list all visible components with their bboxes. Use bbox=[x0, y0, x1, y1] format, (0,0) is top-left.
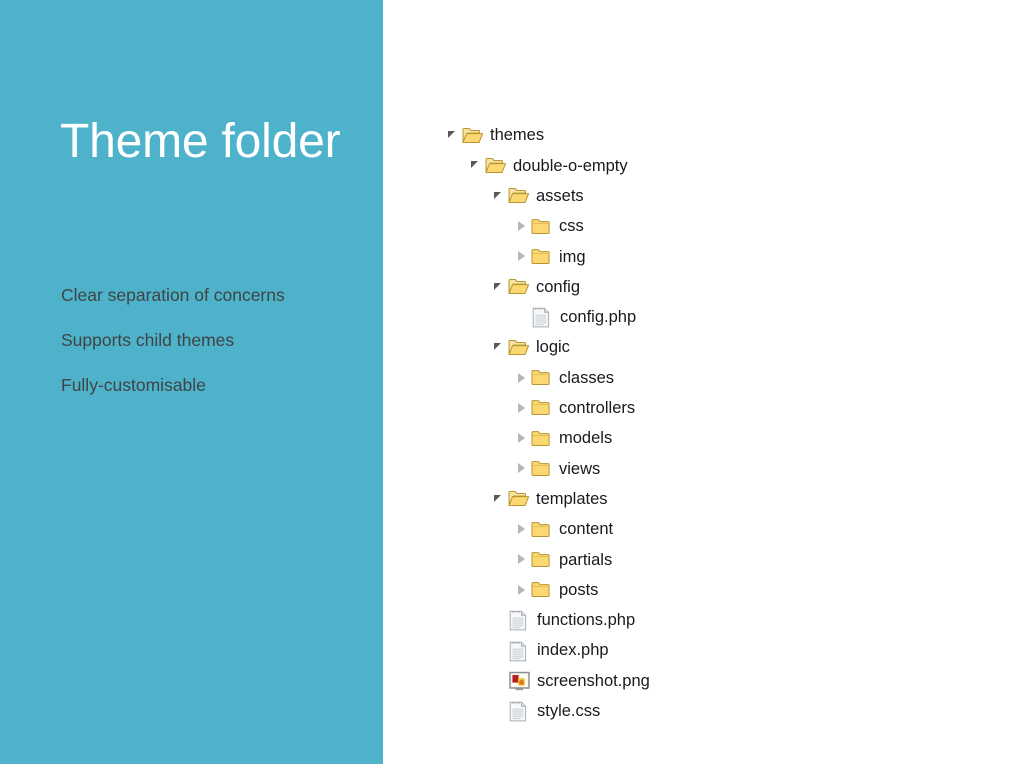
folder-open-icon bbox=[485, 156, 506, 175]
file-tree: themesdouble-o-emptyassetscssimgconfigco… bbox=[445, 120, 650, 726]
tree-node-css[interactable]: css bbox=[445, 211, 650, 241]
tree-node-content[interactable]: content bbox=[445, 514, 650, 544]
tree-node-label: css bbox=[559, 218, 584, 235]
tree-node-index-php[interactable]: index.php bbox=[445, 635, 650, 665]
tree-node-config-php[interactable]: config.php bbox=[445, 302, 650, 332]
tree-node-label: partials bbox=[559, 552, 612, 569]
tree-node-functions-php[interactable]: functions.php bbox=[445, 605, 650, 635]
tree-node-label: classes bbox=[559, 370, 614, 387]
tree-node-label: themes bbox=[490, 127, 544, 144]
triangle-down-icon[interactable] bbox=[445, 127, 460, 143]
triangle-right-icon[interactable] bbox=[514, 218, 529, 234]
bullet-item: Clear separation of concerns bbox=[61, 286, 376, 305]
tree-node-label: double-o-empty bbox=[513, 158, 628, 175]
tree-node-label: content bbox=[559, 521, 613, 538]
tree-node-label: controllers bbox=[559, 400, 635, 417]
triangle-down-icon[interactable] bbox=[468, 157, 483, 173]
file-document-icon bbox=[509, 641, 530, 660]
tree-node-screenshot-png[interactable]: screenshot.png bbox=[445, 665, 650, 695]
triangle-right-icon[interactable] bbox=[514, 582, 529, 598]
triangle-right-icon[interactable] bbox=[514, 248, 529, 264]
tree-node-label: style.css bbox=[537, 703, 600, 720]
folder-closed-icon bbox=[531, 580, 552, 599]
folder-closed-icon bbox=[531, 217, 552, 236]
tree-node-classes[interactable]: classes bbox=[445, 362, 650, 392]
bullet-item: Supports child themes bbox=[61, 331, 376, 350]
tree-node-templates[interactable]: templates bbox=[445, 484, 650, 514]
triangle-down-icon[interactable] bbox=[491, 339, 506, 355]
tree-node-posts[interactable]: posts bbox=[445, 574, 650, 604]
triangle-right-icon[interactable] bbox=[514, 400, 529, 416]
folder-open-icon bbox=[508, 186, 529, 205]
file-tree-panel: themesdouble-o-emptyassetscssimgconfigco… bbox=[383, 0, 1020, 764]
folder-closed-icon bbox=[531, 247, 552, 266]
triangle-down-icon[interactable] bbox=[491, 491, 506, 507]
image-file-icon bbox=[509, 671, 530, 690]
tree-node-controllers[interactable]: controllers bbox=[445, 393, 650, 423]
tree-node-partials[interactable]: partials bbox=[445, 544, 650, 574]
tree-node-style-css[interactable]: style.css bbox=[445, 696, 650, 726]
folder-open-icon bbox=[508, 277, 529, 296]
triangle-right-icon[interactable] bbox=[514, 551, 529, 567]
folder-open-icon bbox=[508, 338, 529, 357]
folder-closed-icon bbox=[531, 398, 552, 417]
tree-node-label: views bbox=[559, 461, 600, 478]
tree-node-models[interactable]: models bbox=[445, 423, 650, 453]
tree-node-themes[interactable]: themes bbox=[445, 120, 650, 150]
folder-open-icon bbox=[462, 126, 483, 145]
triangle-down-icon[interactable] bbox=[491, 188, 506, 204]
tree-node-assets[interactable]: assets bbox=[445, 181, 650, 211]
bullet-item: Fully-customisable bbox=[61, 376, 376, 395]
file-document-icon bbox=[509, 701, 530, 720]
left-accent-panel: Theme folder Clear separation of concern… bbox=[0, 0, 383, 764]
tree-node-label: screenshot.png bbox=[537, 673, 650, 690]
folder-open-icon bbox=[508, 489, 529, 508]
folder-closed-icon bbox=[531, 520, 552, 539]
tree-node-label: posts bbox=[559, 582, 598, 599]
tree-node-views[interactable]: views bbox=[445, 453, 650, 483]
tree-node-logic[interactable]: logic bbox=[445, 332, 650, 362]
tree-node-config[interactable]: config bbox=[445, 271, 650, 301]
folder-closed-icon bbox=[531, 429, 552, 448]
tree-node-img[interactable]: img bbox=[445, 241, 650, 271]
tree-node-label: index.php bbox=[537, 642, 609, 659]
slide: Theme folder Clear separation of concern… bbox=[0, 0, 1020, 764]
tree-node-label: assets bbox=[536, 188, 584, 205]
tree-node-label: logic bbox=[536, 339, 570, 356]
file-document-icon bbox=[532, 307, 553, 326]
tree-node-label: models bbox=[559, 430, 612, 447]
bullet-list: Clear separation of concernsSupports chi… bbox=[61, 286, 376, 420]
folder-closed-icon bbox=[531, 368, 552, 387]
triangle-right-icon[interactable] bbox=[514, 521, 529, 537]
folder-closed-icon bbox=[531, 459, 552, 478]
tree-node-label: config.php bbox=[560, 309, 636, 326]
triangle-right-icon[interactable] bbox=[514, 460, 529, 476]
tree-node-label: img bbox=[559, 249, 586, 266]
tree-node-double-o-empty[interactable]: double-o-empty bbox=[445, 150, 650, 180]
page-title: Theme folder bbox=[60, 116, 370, 169]
triangle-right-icon[interactable] bbox=[514, 370, 529, 386]
folder-closed-icon bbox=[531, 550, 552, 569]
file-document-icon bbox=[509, 610, 530, 629]
triangle-right-icon[interactable] bbox=[514, 430, 529, 446]
tree-node-label: templates bbox=[536, 491, 608, 508]
tree-node-label: functions.php bbox=[537, 612, 635, 629]
tree-node-label: config bbox=[536, 279, 580, 296]
triangle-down-icon[interactable] bbox=[491, 279, 506, 295]
